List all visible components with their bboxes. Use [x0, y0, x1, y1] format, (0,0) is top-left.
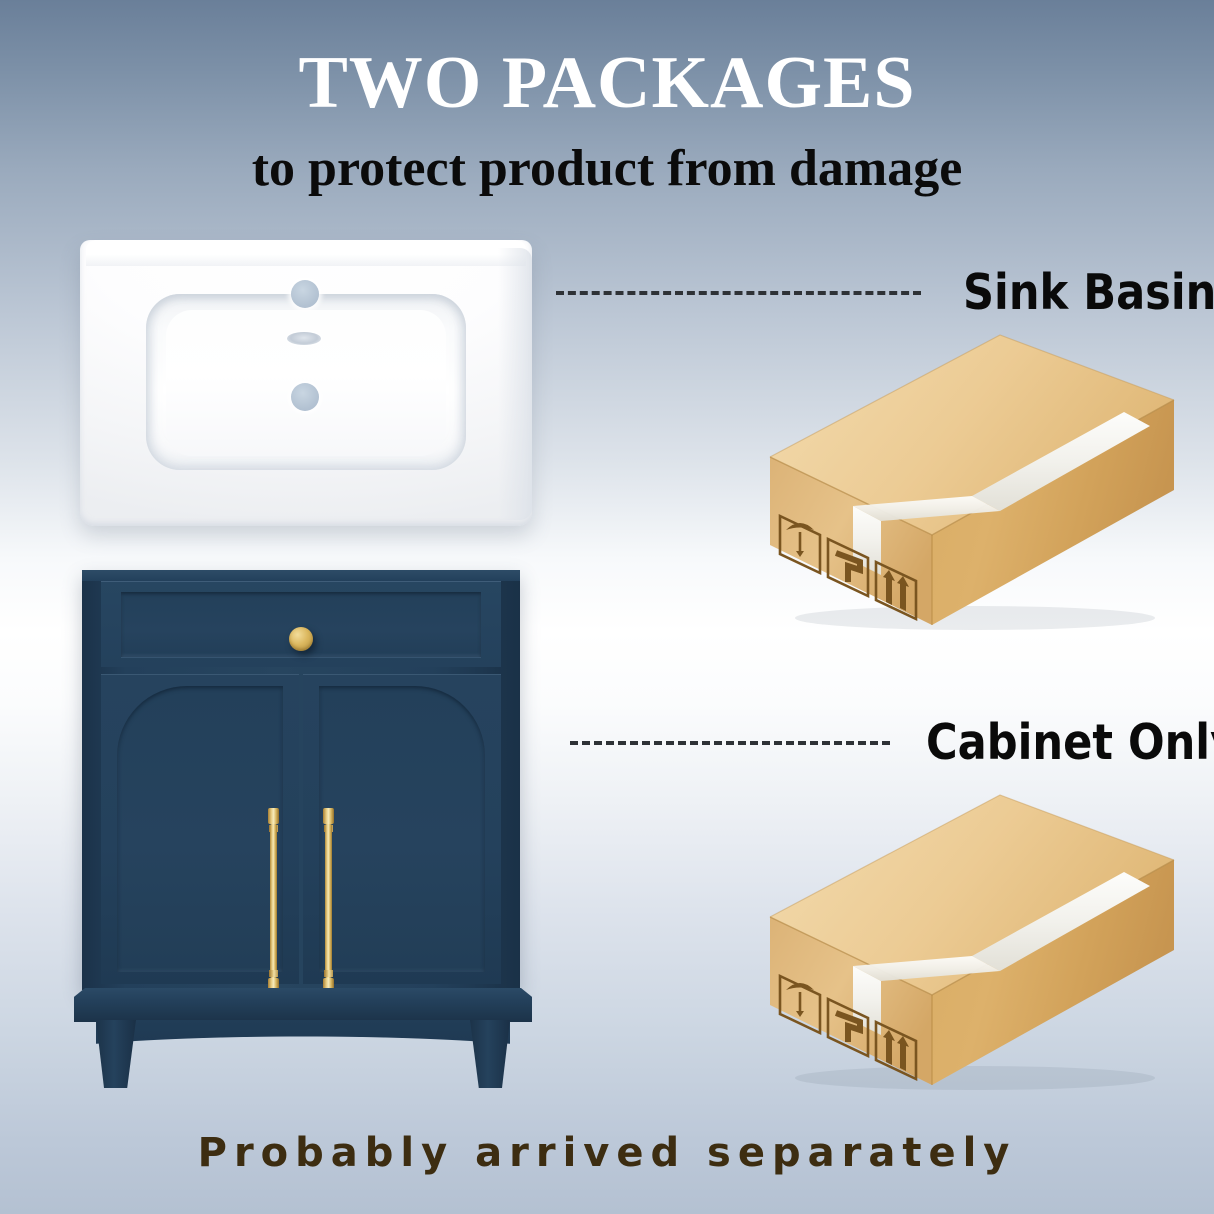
cabinet-door-right	[303, 674, 501, 984]
handle-collar-bottom	[269, 970, 278, 977]
handle-bar	[325, 824, 332, 978]
door-arched-panel	[319, 686, 485, 972]
callout-sink-basin: Sink Basin	[556, 268, 1196, 317]
callout-label-sink-basin: Sink Basin	[963, 268, 1214, 317]
cabinet-leg-left	[96, 1020, 136, 1088]
drawer-knob-icon	[289, 627, 313, 651]
cabinet-illustration	[74, 570, 532, 1088]
carton-svg	[750, 790, 1190, 1090]
sink-basin-illustration	[80, 240, 532, 526]
cabinet-top-rail	[82, 570, 520, 581]
handle-bar	[270, 824, 277, 978]
drain-hole-icon	[291, 383, 319, 411]
cabinet-arched-apron	[96, 1020, 510, 1064]
footnote-text: Probably arrived separately	[0, 1130, 1214, 1176]
cabinet-leg-right	[470, 1020, 510, 1088]
overflow-slot-icon	[287, 332, 321, 345]
page-subtitle: to protect product from damage	[0, 143, 1214, 195]
handle-cap-top	[268, 808, 279, 824]
cabinet-body	[82, 570, 520, 990]
leader-line-dashed	[570, 741, 890, 745]
sink-bowl	[146, 294, 466, 470]
page-title: TWO PACKAGES	[0, 46, 1214, 120]
callout-label-cabinet-only: Cabinet Only	[926, 718, 1214, 767]
leader-line-dashed	[556, 291, 921, 295]
carton-cabinet-only	[750, 790, 1190, 1090]
callout-cabinet-only: Cabinet Only	[570, 718, 1200, 767]
door-handle-right-icon	[323, 808, 334, 994]
carton-svg	[750, 330, 1190, 630]
faucet-hole-icon	[291, 280, 319, 308]
cabinet-drawer	[101, 581, 501, 667]
cabinet-doors	[101, 674, 501, 984]
handle-collar-bottom	[324, 970, 333, 977]
handle-cap-top	[323, 808, 334, 824]
carton-sink-basin	[750, 330, 1190, 630]
door-arched-panel	[117, 686, 283, 972]
cabinet-door-left	[101, 674, 299, 984]
door-handle-left-icon	[268, 808, 279, 994]
carton-shadow	[795, 606, 1155, 630]
product-infographic: TWO PACKAGES to protect product from dam…	[0, 0, 1214, 1214]
carton-shadow	[795, 1066, 1155, 1090]
cabinet-plinth	[74, 988, 532, 1022]
